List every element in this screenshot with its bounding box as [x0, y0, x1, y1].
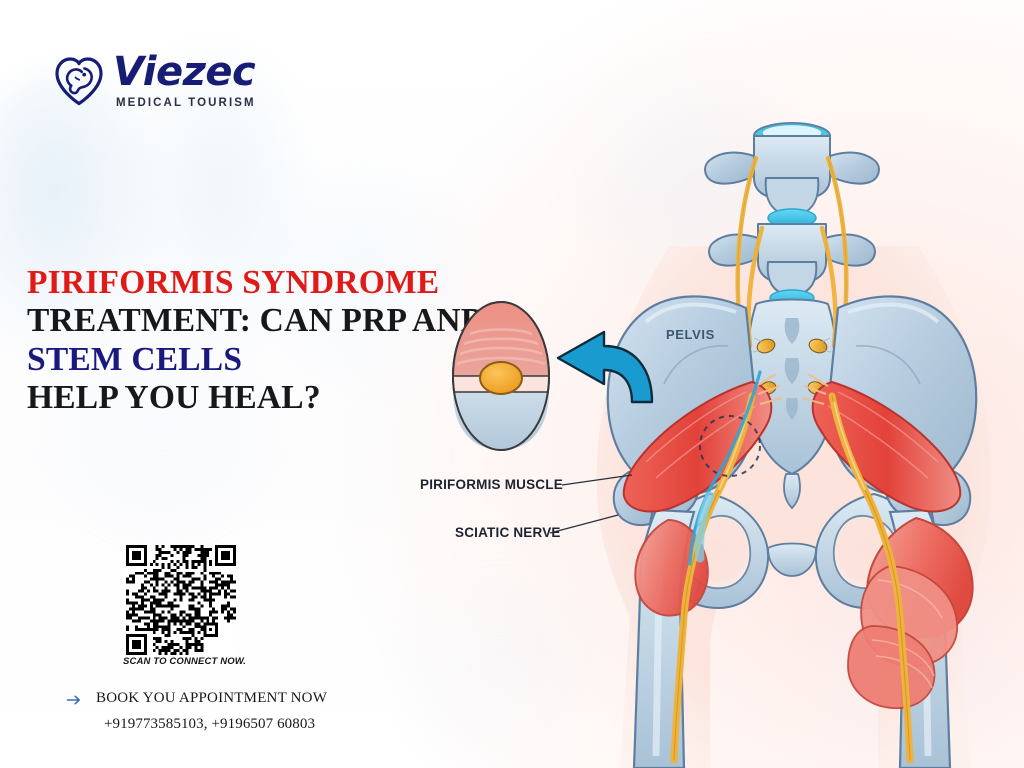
qr-caption: SCAN TO CONNECT NOW. [123, 656, 303, 667]
heart-fetus-icon [54, 55, 104, 107]
curved-arrow-icon [548, 324, 660, 408]
qr-code[interactable] [126, 545, 236, 655]
leader-lines [400, 465, 700, 555]
phone-numbers[interactable]: +919773585103, +9196507 60803 [104, 716, 327, 733]
poster-canvas: Viezec MEDICAL TOURISM PIRIFORMIS SYNDRO… [0, 0, 1024, 768]
qr-code-image [126, 545, 236, 655]
pelvis-label: PELVIS [666, 327, 715, 342]
brand-tagline: MEDICAL TOURISM [116, 98, 256, 110]
headline-line-3: STEM CELLS [27, 341, 497, 379]
pelvis-anatomy-illustration [560, 96, 1024, 768]
arrow-right-icon [66, 690, 82, 713]
headline-line-1: PIRIFORMIS SYNDROME [27, 264, 497, 302]
headline-line-4: HELP YOU HEAL? [27, 379, 497, 417]
brand-logo: Viezec MEDICAL TOURISM [54, 52, 256, 110]
muscle-nerve-cross-section [440, 296, 562, 456]
diagram-labels: PIRIFORMIS MUSCLE SCIATIC NERVE [400, 465, 700, 555]
contact-block: BOOK YOU APPOINTMENT NOW +919773585103, … [66, 690, 466, 733]
page-title: PIRIFORMIS SYNDROME TREATMENT: CAN PRP A… [27, 264, 497, 417]
appointment-cta[interactable]: BOOK YOU APPOINTMENT NOW [96, 690, 327, 707]
headline-line-2: TREATMENT: CAN PRP AND [27, 302, 497, 340]
brand-name: Viezec [113, 52, 256, 92]
brand-wordmark: Viezec MEDICAL TOURISM [113, 52, 256, 110]
